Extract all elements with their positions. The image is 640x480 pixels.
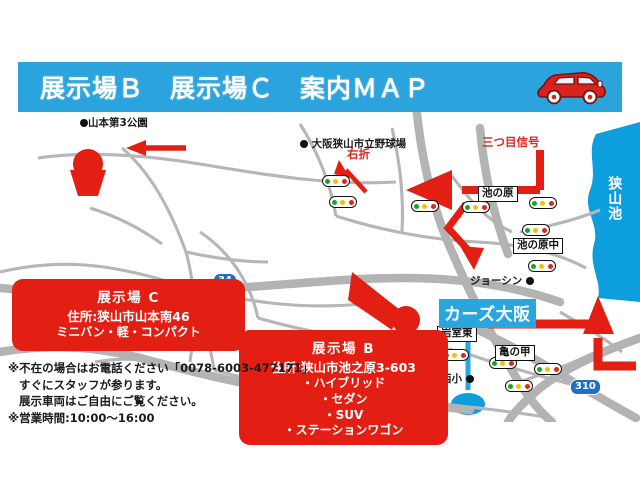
intersection-ikenohara: 池の原 [478,186,518,202]
black-dot-icon [300,140,308,148]
intersection-ikenohara-naka: 池の原中 [513,238,563,254]
callout-c-address: 住所:狭山市山本南46 [12,306,245,325]
note-line-4: ※営業時間:10:00～16:00 [8,410,308,427]
signal-icon [534,363,562,375]
black-dot-icon [526,277,534,285]
map-flyer: 展示場Ｂ 展示場Ｃ 案内ＭＡＰ [0,0,640,480]
signal-icon [529,197,557,209]
lake-label-sayamaike: 狭山池 [607,176,621,221]
callout-c-title: 展示場 C [12,286,245,306]
signal-icon [522,224,550,236]
route-arrow-up [583,296,614,334]
black-dot-icon [80,119,88,127]
signal-icon [411,200,439,212]
note-line-3: 展示車両はご自由にご覧ください。 [8,393,308,410]
signal-icon [322,175,350,187]
intersection-kamenoko: 亀の甲 [495,345,535,361]
note-line-1: ※不在の場合はお電話ください「0078-6003-477171」 [8,360,308,377]
callout-c-items: ミニバン・軽・コンパクト [12,325,245,341]
signal-icon [329,196,357,208]
dealer-highlight-cars-osaka: カーズ大阪 [439,299,536,328]
signal-icon [505,380,533,392]
black-dot-icon [466,375,474,383]
annotation-turn-right: 右折 [347,146,370,162]
page-title: 展示場Ｂ 展示場Ｃ 案内ＭＡＰ [40,69,430,105]
callout-b-title: 展示場 B [239,337,448,357]
route-shield-310: 310 [570,379,601,395]
red-car-icon [534,67,608,113]
header-banner: 展示場Ｂ 展示場Ｃ 案内ＭＡＰ [18,62,622,112]
signal-icon [462,201,490,213]
callout-showroom-c: 展示場 C 住所:狭山市山本南46 ミニバン・軽・コンパクト [12,279,245,351]
poi-yamamoto-park: 山本第3公園 [80,118,148,129]
note-line-2: すぐにスタッフが参ります。 [8,377,308,394]
annotation-third-signal: 三つ目信号 [482,134,540,150]
poi-joshin: ジョーシン [470,276,534,287]
footer-notes: ※不在の場合はお電話ください「0078-6003-477171」 すぐにスタッフ… [8,360,308,427]
signal-icon [528,260,556,272]
